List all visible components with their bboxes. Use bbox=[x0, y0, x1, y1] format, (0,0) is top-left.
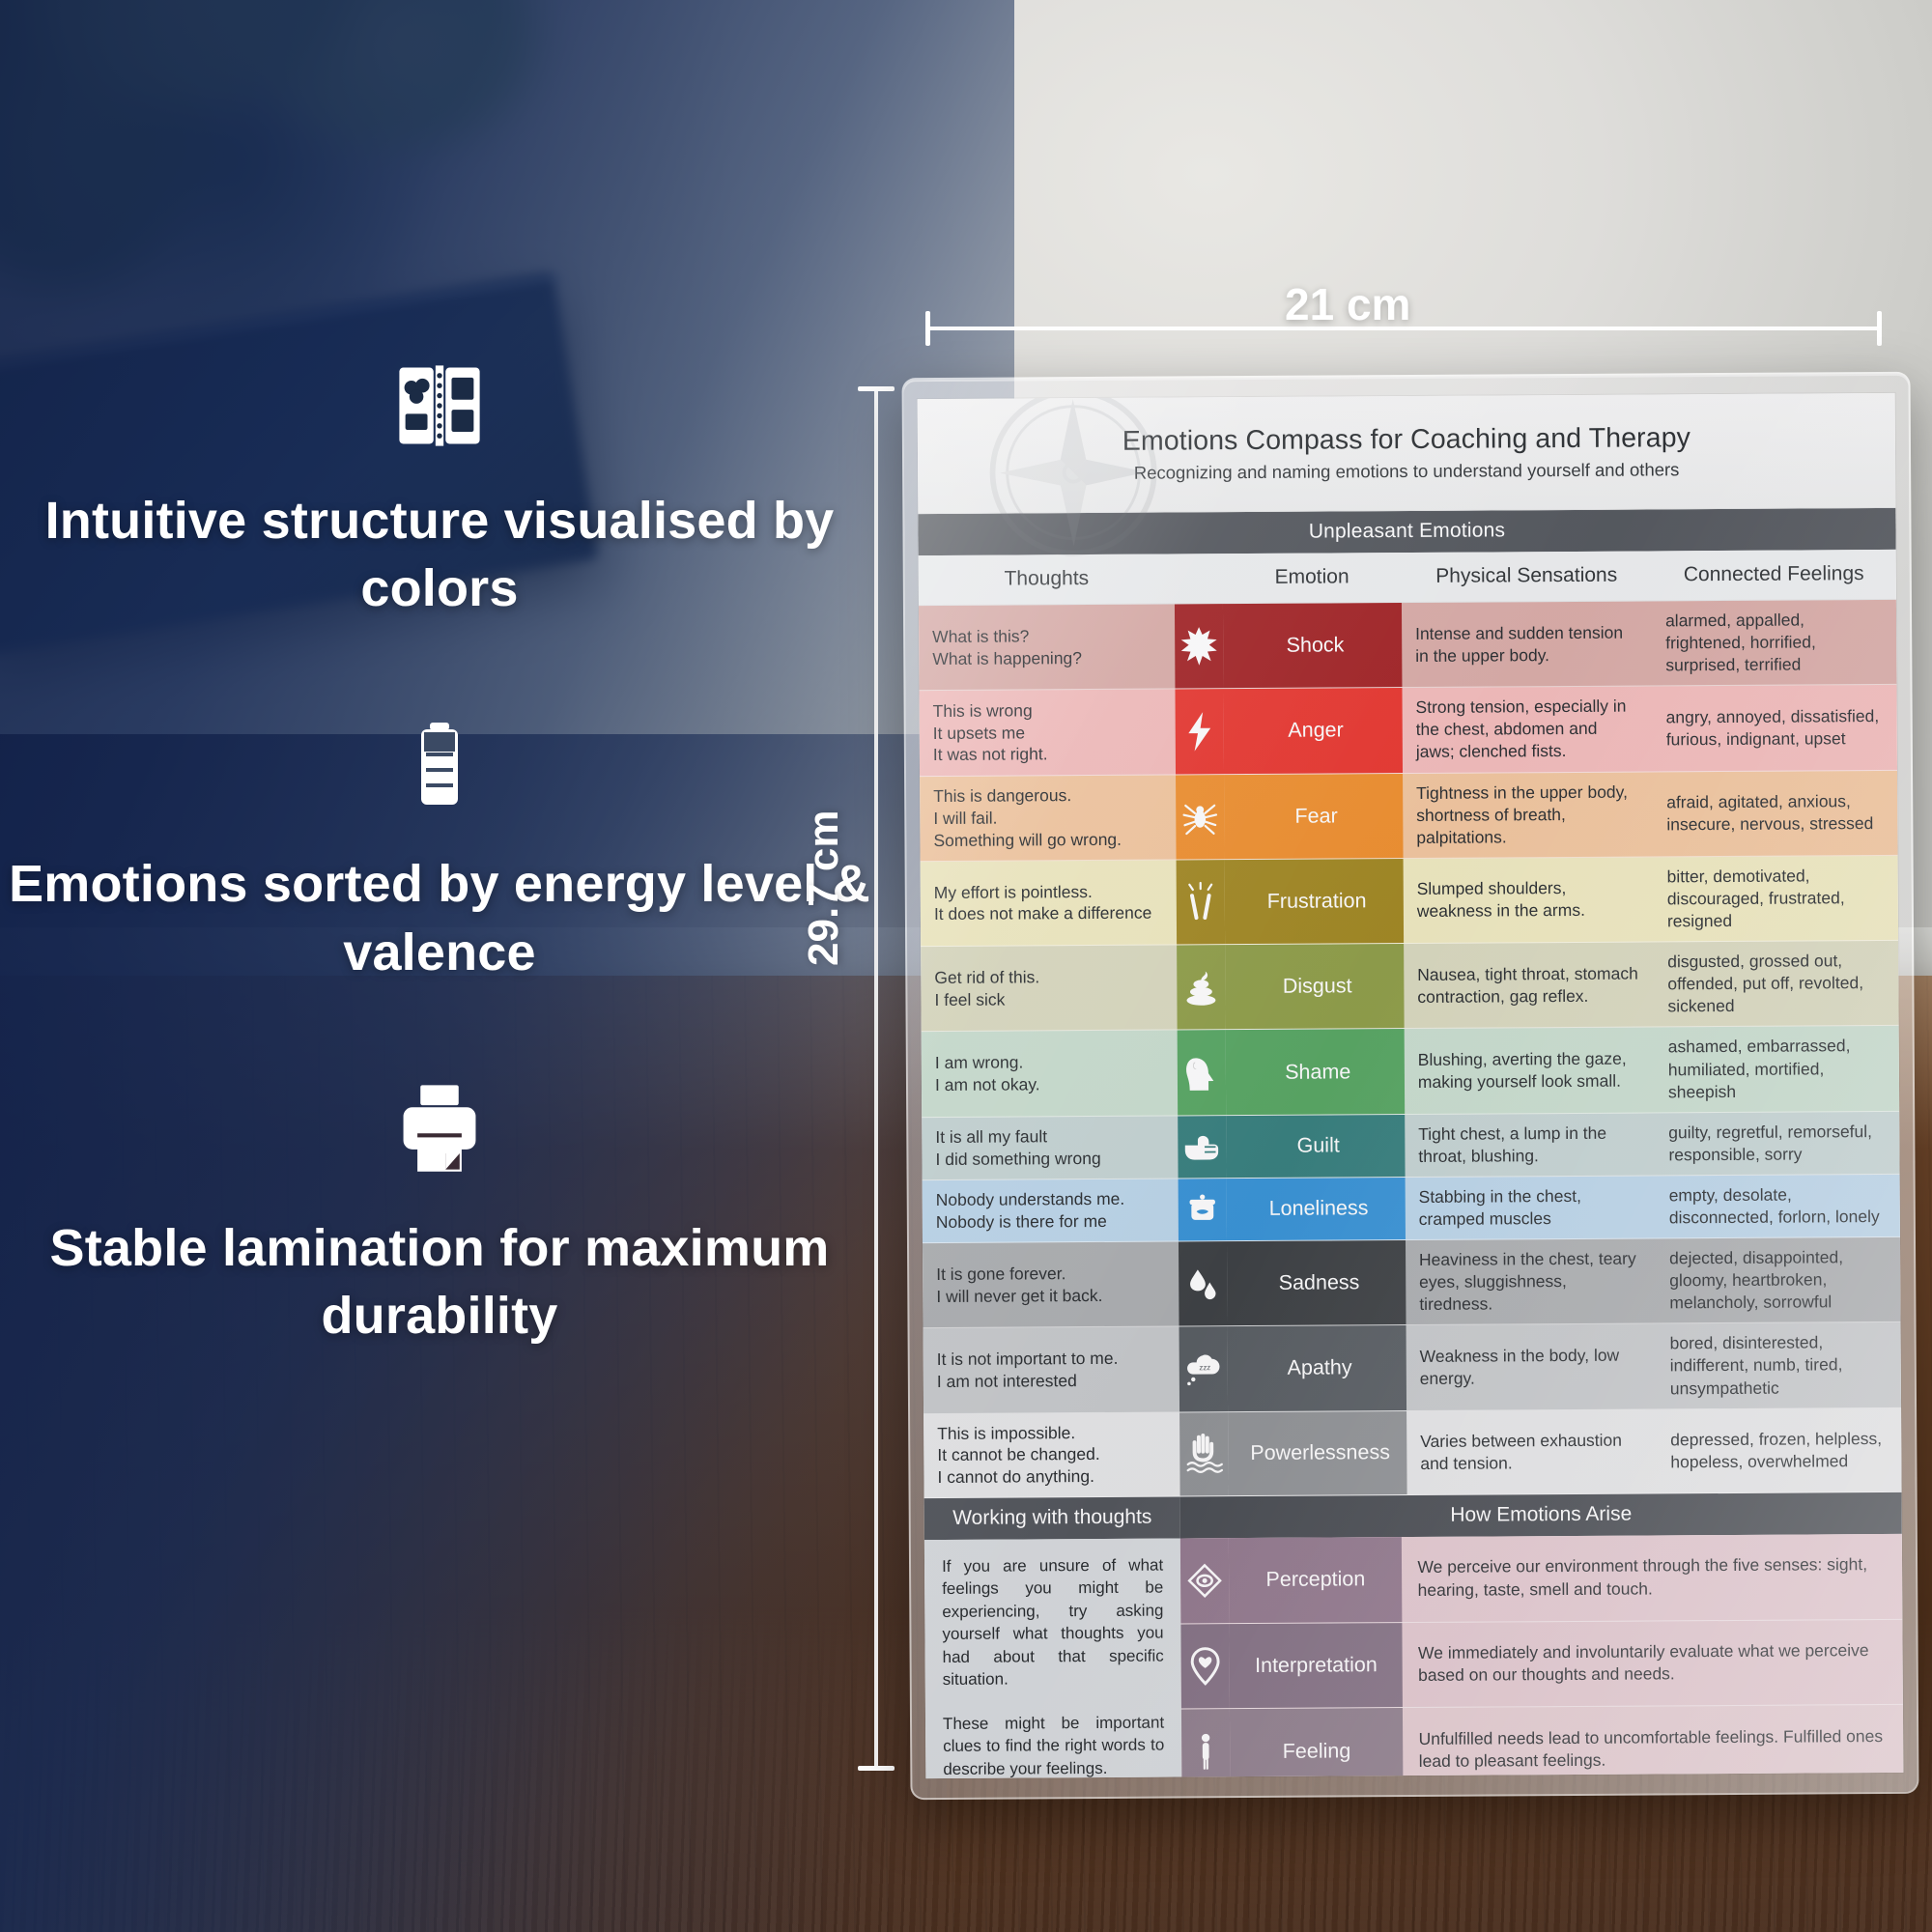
person-icon bbox=[1181, 1709, 1231, 1778]
emotion-row: This is dangerous.I will fail.Something … bbox=[920, 770, 1898, 861]
arise-name: Feeling bbox=[1230, 1708, 1404, 1778]
arise-description: We perceive our environment through the … bbox=[1402, 1534, 1902, 1622]
feature-label: Intuitive structure visualised by colors bbox=[0, 487, 879, 622]
emotion-feelings: disgusted, grossed out, offended, put of… bbox=[1654, 941, 1899, 1027]
lightning-icon bbox=[1176, 689, 1224, 774]
width-cap-right bbox=[1877, 311, 1882, 346]
arise-row: PerceptionWe perceive our environment th… bbox=[1180, 1534, 1902, 1624]
tip-paragraph: These might be important clues to find t… bbox=[943, 1711, 1165, 1778]
printer-icon bbox=[0, 1069, 879, 1185]
emotion-feelings: bored, disinterested, indifferent, numb,… bbox=[1656, 1322, 1901, 1408]
emotion-row: Get rid of this.I feel sickDisgustNausea… bbox=[921, 941, 1899, 1032]
compass-watermark bbox=[981, 393, 1166, 565]
emotions-compass-poster: Emotions Compass for Coaching and Therap… bbox=[918, 393, 1904, 1778]
product-marketing-image: Intuitive structure visualised by colors… bbox=[0, 0, 1932, 1932]
spider-icon bbox=[1176, 775, 1224, 860]
emotion-sensations: Intense and sudden tension in the upper … bbox=[1402, 601, 1653, 687]
column-header-emotion: Emotion bbox=[1222, 553, 1401, 603]
tears-icon bbox=[1179, 1241, 1227, 1326]
emotion-row: It is gone forever.I will never get it b… bbox=[923, 1237, 1901, 1328]
emotion-thoughts: It is all my faultI did something wrong bbox=[922, 1116, 1179, 1179]
emotion-row: My effort is pointless.It does not make … bbox=[921, 856, 1899, 947]
emotion-name: Shame bbox=[1225, 1029, 1405, 1114]
emotion-row: What is this?What is happening?ShockInte… bbox=[919, 600, 1897, 691]
feature-list: Intuitive structure visualised by colors… bbox=[0, 348, 879, 1433]
arise-row: InterpretationWe immediately and involun… bbox=[1181, 1619, 1903, 1709]
emotion-name: Apathy bbox=[1227, 1325, 1406, 1410]
eye-icon bbox=[1180, 1538, 1230, 1623]
emotion-sensations: Blushing, averting the gaze, making your… bbox=[1405, 1028, 1656, 1114]
column-header-icon-spacer bbox=[1175, 554, 1223, 603]
height-dimension-line bbox=[874, 388, 878, 1770]
battery-icon bbox=[0, 705, 879, 821]
emotion-thoughts: This is wrongIt upsets meIt was not righ… bbox=[919, 690, 1176, 776]
emotion-thoughts: It is not important to me.I am not inter… bbox=[923, 1327, 1180, 1413]
heart-pin-icon bbox=[1181, 1624, 1231, 1709]
emotion-feelings: ashamed, embarrassed, humiliated, mortif… bbox=[1655, 1026, 1900, 1112]
emotion-row: It is all my faultI did something wrongG… bbox=[922, 1112, 1899, 1180]
sleep-cloud-icon: zzz bbox=[1179, 1327, 1228, 1412]
height-cap-bottom bbox=[858, 1766, 895, 1771]
feature-item-energy: Emotions sorted by energy level & valenc… bbox=[0, 705, 879, 985]
emotion-name: Shock bbox=[1223, 603, 1403, 688]
emotion-sensations: Varies between exhaustion and tension. bbox=[1406, 1409, 1658, 1494]
width-cap-left bbox=[925, 311, 930, 346]
emotion-row: This is wrongIt upsets meIt was not righ… bbox=[919, 685, 1897, 776]
emotion-name: Sadness bbox=[1227, 1240, 1406, 1325]
emotion-rows: What is this?What is happening?ShockInte… bbox=[919, 600, 1902, 1498]
emotion-thoughts: Get rid of this.I feel sick bbox=[921, 946, 1178, 1032]
column-header-feelings: Connected Feelings bbox=[1652, 550, 1896, 601]
emotion-feelings: depressed, frozen, helpless, hopeless, o… bbox=[1657, 1408, 1902, 1493]
how-emotions-arise-band: How Emotions Arise bbox=[1180, 1492, 1902, 1539]
emotion-name: Guilt bbox=[1226, 1115, 1406, 1178]
emotion-name: Frustration bbox=[1224, 859, 1404, 944]
arise-description: Unfulfilled needs lead to uncomfortable … bbox=[1403, 1705, 1903, 1778]
cup-icon bbox=[1179, 1179, 1227, 1240]
emotion-feelings: alarmed, appalled, frightened, horrified… bbox=[1652, 600, 1897, 686]
emotion-name: Fear bbox=[1224, 774, 1404, 859]
emotion-feelings: dejected, disappointed, gloomy, heartbro… bbox=[1656, 1237, 1901, 1323]
emotion-sensations: Nausea, tight throat, stomach contractio… bbox=[1404, 943, 1655, 1029]
emotion-sensations: Tightness in the upper body, shortness o… bbox=[1403, 772, 1654, 858]
emotion-sensations: Tight chest, a lump in the throat, blush… bbox=[1405, 1113, 1655, 1177]
arise-row: FeelingUnfulfilled needs lead to uncomfo… bbox=[1181, 1705, 1903, 1778]
explosion-icon bbox=[1175, 604, 1223, 689]
how-emotions-arise-section: If you are unsure of what feelings you m… bbox=[924, 1534, 1903, 1778]
emotion-row: This is impossible.It cannot be changed.… bbox=[923, 1408, 1902, 1498]
bottom-band-row: Working with thoughts How Emotions Arise bbox=[924, 1492, 1902, 1540]
svg-text:zzz: zzz bbox=[1199, 1363, 1210, 1372]
emotion-feelings: bitter, demotivated, discouraged, frustr… bbox=[1654, 856, 1899, 942]
emotion-name: Disgust bbox=[1225, 944, 1405, 1029]
emotion-thoughts: This is impossible.It cannot be changed.… bbox=[923, 1412, 1180, 1497]
feature-label: Stable lamination for maximum durability bbox=[0, 1214, 879, 1350]
emotion-sensations: Heaviness in the chest, teary eyes, slug… bbox=[1406, 1239, 1657, 1325]
poop-icon bbox=[1177, 945, 1225, 1030]
emotion-feelings: afraid, agitated, anxious, insecure, ner… bbox=[1653, 770, 1898, 856]
emotion-name: Loneliness bbox=[1226, 1178, 1406, 1240]
feature-label: Emotions sorted by energy level & valenc… bbox=[0, 850, 879, 985]
pointing-hand-icon bbox=[1178, 1116, 1226, 1178]
drowning-hand-icon bbox=[1179, 1412, 1228, 1496]
arise-name: Perception bbox=[1229, 1537, 1403, 1623]
emotion-thoughts: It is gone forever.I will never get it b… bbox=[923, 1242, 1179, 1328]
width-dimension-label: 21 cm bbox=[1285, 278, 1410, 330]
poster-header: Emotions Compass for Coaching and Therap… bbox=[918, 393, 1896, 514]
emotion-thoughts: Nobody understands me.Nobody is there fo… bbox=[923, 1179, 1179, 1242]
emotion-sensations: Slumped shoulders, weakness in the arms. bbox=[1403, 857, 1654, 943]
emotion-thoughts: What is this?What is happening? bbox=[919, 604, 1176, 690]
height-cap-top bbox=[858, 386, 895, 391]
emotion-thoughts: This is dangerous.I will fail.Something … bbox=[920, 775, 1177, 861]
head-icon bbox=[1178, 1031, 1226, 1116]
emotion-sensations: Weakness in the body, low energy. bbox=[1406, 1324, 1657, 1410]
emotion-row: I am wrong.I am not okay.ShameBlushing, … bbox=[922, 1026, 1900, 1117]
emotion-name: Anger bbox=[1223, 688, 1403, 773]
working-with-thoughts-band: Working with thoughts bbox=[924, 1496, 1180, 1540]
emotion-name: Powerlessness bbox=[1228, 1411, 1407, 1495]
arise-rows: PerceptionWe perceive our environment th… bbox=[1180, 1534, 1903, 1778]
feature-item-lamination: Stable lamination for maximum durability bbox=[0, 1069, 879, 1350]
arise-name: Interpretation bbox=[1230, 1623, 1404, 1709]
emotion-feelings: empty, desolate, disconnected, forlorn, … bbox=[1656, 1175, 1900, 1238]
emotion-thoughts: I am wrong.I am not okay. bbox=[922, 1031, 1179, 1117]
poster-title: Emotions Compass for Coaching and Therap… bbox=[1122, 422, 1690, 458]
color-album-icon bbox=[0, 348, 879, 464]
tips-panel: If you are unsure of what feelings you m… bbox=[924, 1538, 1182, 1778]
laminated-sheet: Emotions Compass for Coaching and Therap… bbox=[902, 372, 1919, 1800]
broken-pencil-icon bbox=[1177, 860, 1225, 945]
tip-paragraph: If you are unsure of what feelings you m… bbox=[942, 1553, 1164, 1690]
poster-subtitle: Recognizing and naming emotions to under… bbox=[1134, 459, 1680, 483]
emotion-row: Nobody understands me.Nobody is there fo… bbox=[923, 1175, 1900, 1243]
emotion-sensations: Strong tension, especially in the chest,… bbox=[1402, 687, 1653, 773]
arise-description: We immediately and involuntarily evaluat… bbox=[1403, 1619, 1903, 1707]
column-header-sensations: Physical Sensations bbox=[1402, 551, 1652, 602]
emotion-row: It is not important to me.I am not inter… bbox=[923, 1322, 1902, 1413]
emotion-thoughts: My effort is pointless.It does not make … bbox=[921, 860, 1178, 946]
emotion-sensations: Stabbing in the chest, cramped muscles bbox=[1405, 1176, 1655, 1239]
feature-item-structure: Intuitive structure visualised by colors bbox=[0, 348, 879, 622]
emotion-feelings: guilty, regretful, remorseful, responsib… bbox=[1655, 1112, 1899, 1176]
height-dimension-label: 29.7 cm bbox=[800, 810, 848, 966]
emotion-feelings: angry, annoyed, dissatisfied, furious, i… bbox=[1652, 685, 1897, 771]
